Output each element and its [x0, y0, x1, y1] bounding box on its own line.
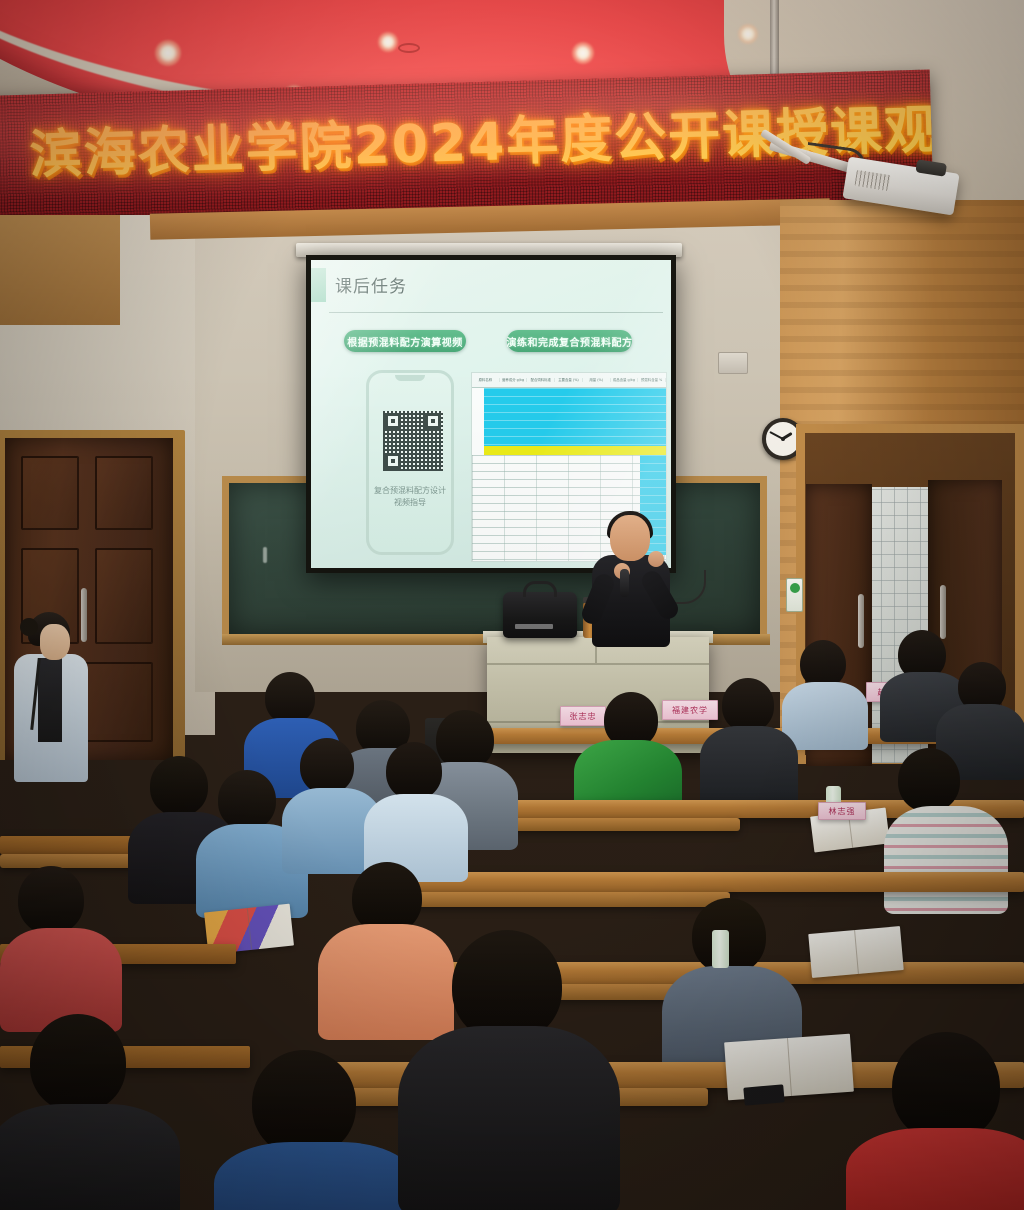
spreadsheet-yellow-band [484, 446, 666, 455]
lectern-seam [487, 663, 709, 665]
handheld-microphone [620, 569, 629, 597]
caption-line-2: 视频指导 [369, 497, 451, 509]
presenter-bag [503, 592, 577, 638]
student-torso-foreground [398, 1026, 620, 1210]
student-head [692, 898, 766, 974]
nameplate: 张志忠 [560, 706, 606, 726]
door-handle-right-b[interactable] [940, 585, 946, 639]
student-torso-foreground [214, 1142, 418, 1210]
col-header: 营养成分 g/kg [500, 378, 528, 382]
student-head [722, 678, 774, 732]
qr-finder-icon [385, 453, 401, 469]
phone-on-desk [743, 1084, 784, 1105]
slide-phone-mockup: 复合预混料配方设计 视频指导 [366, 370, 454, 555]
presenter-head [610, 515, 650, 561]
ceiling-spotlight [378, 32, 398, 52]
desk-row-three [392, 872, 1024, 892]
observer-inner-top [38, 658, 62, 742]
qr-finder-icon [385, 413, 401, 429]
presenter-hand-right [648, 551, 664, 567]
wood-panel-left [0, 215, 120, 325]
qr-code-icon [383, 411, 443, 471]
col-header: 主要含量 (%) [555, 378, 583, 382]
col-header: 原料名称 [472, 378, 500, 382]
observer-face [40, 624, 70, 660]
slide-title: 课后任务 [335, 272, 407, 297]
caption-line-1: 复合预混料配方设计 [369, 485, 451, 497]
student-torso [700, 726, 798, 808]
student-head [436, 710, 494, 770]
chalk-mark [263, 547, 267, 563]
student-torso-foreground [846, 1128, 1024, 1210]
student-head [218, 770, 276, 830]
ceiling-vent-ring [398, 43, 420, 53]
slide-accent-block [311, 268, 326, 302]
slide-pill-right: 演练和完成复合预混料配方 [507, 330, 632, 352]
nameplate: 福建农学 [662, 700, 718, 720]
student-head [386, 742, 442, 800]
slide-pill-left: 根据预混料配方演算视频 [344, 330, 466, 352]
student-head [18, 866, 84, 934]
wall-switch-panel[interactable] [718, 352, 748, 374]
student-head [300, 738, 354, 794]
classroom-photo: 滨海农业学院2024年度公开课授课观摩活动 课后任务 根据预混料配方演算视频 演… [0, 0, 1024, 1210]
bag-logo [515, 624, 553, 629]
spreadsheet-cyan-block [484, 388, 666, 446]
door-panel [95, 456, 153, 530]
ceiling-spotlight [155, 40, 181, 66]
student-torso [884, 806, 1008, 914]
door-panel [21, 456, 79, 530]
student-head [898, 748, 960, 812]
presenter [586, 515, 676, 645]
student-head-foreground [30, 1014, 126, 1112]
led-banner-text: 滨海农业学院2024年度公开课授课观摩活动 [28, 89, 890, 188]
col-header: 成品含量 g/kg [611, 378, 639, 382]
bench-backrest [400, 892, 730, 907]
bag-handle [523, 581, 557, 597]
col-header: 预混料含量 % [638, 378, 666, 382]
nameplate: 林志强 [818, 802, 866, 820]
student-torso [782, 682, 868, 750]
wall-safety-sign [786, 578, 803, 612]
phone-notch [395, 375, 425, 381]
student-head [800, 640, 846, 688]
student-head-foreground [252, 1050, 356, 1156]
student-head [150, 756, 208, 816]
door-panel [95, 548, 153, 644]
slide-phone-caption: 复合预混料配方设计 视频指导 [369, 485, 451, 508]
projector-vent [854, 170, 890, 191]
col-header: 用量 (%) [583, 378, 611, 382]
observer-hair-bun [20, 618, 38, 636]
ceiling-spotlight [738, 24, 758, 44]
student-torso-foreground [0, 1104, 180, 1210]
student-head-foreground [892, 1032, 1000, 1142]
open-textbook [808, 926, 903, 978]
clock-center-pin [781, 437, 785, 441]
spreadsheet-header-row: 原料名称 营养成分 g/kg 配合饲料标准 主要含量 (%) 用量 (%) 成品… [472, 373, 666, 388]
student-torso [318, 924, 454, 1040]
slide-divider [329, 312, 663, 313]
standing-observer [10, 612, 96, 782]
col-header: 配合饲料标准 [527, 378, 555, 382]
qr-finder-icon [425, 413, 441, 429]
door-handle-right-a[interactable] [858, 594, 864, 648]
student-head [265, 672, 315, 724]
water-bottle [712, 930, 729, 968]
ceiling-spotlight [572, 42, 594, 64]
